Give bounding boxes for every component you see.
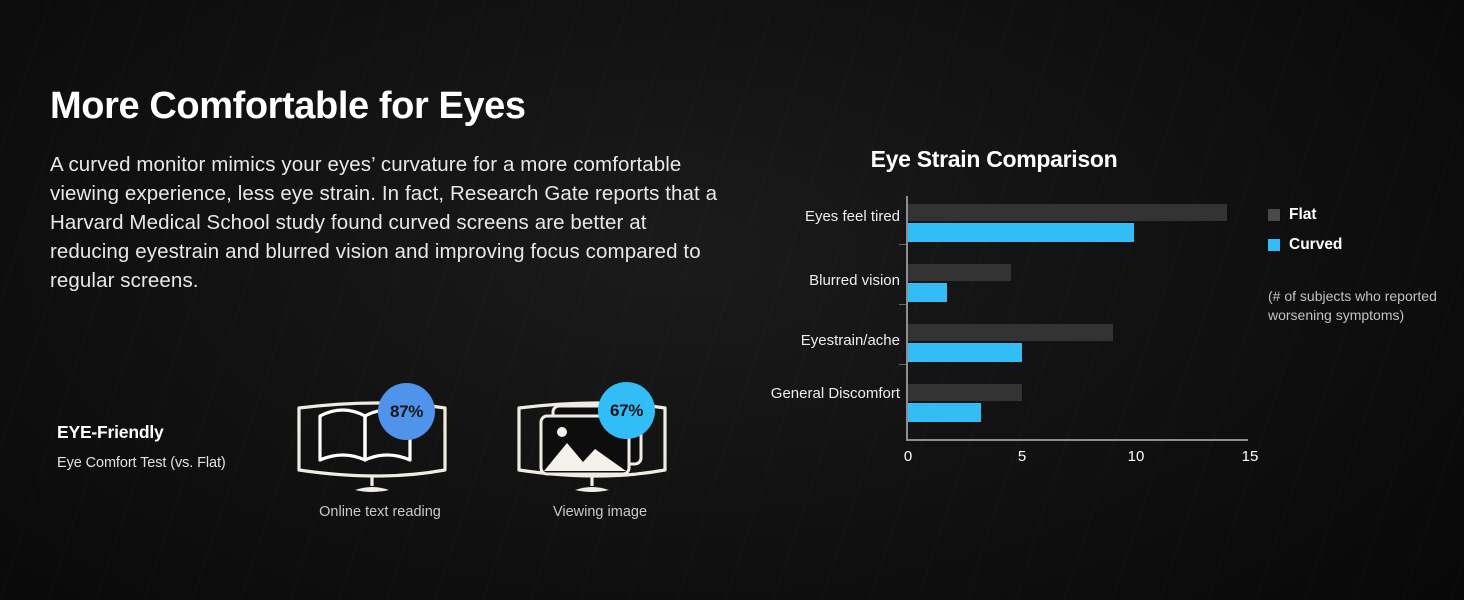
chart-category-label: Eyestrain/ache — [740, 332, 900, 349]
chart-y-tick — [899, 364, 906, 365]
eye-comfort-test-subtitle: Eye Comfort Test (vs. Flat) — [57, 455, 287, 471]
chart-x-tick-label: 15 — [1242, 448, 1259, 465]
chart-x-tick-label: 10 — [1128, 448, 1145, 465]
eye-strain-chart: Eye Strain Comparison Eyes feel tired Bl… — [740, 138, 1440, 488]
eye-comfort-section: EYE-Friendly Eye Comfort Test (vs. Flat) — [50, 386, 730, 536]
chart-category-label: Eyes feel tired — [740, 208, 900, 225]
chart-bar-curved — [908, 283, 947, 302]
chart-x-tick-label: 5 — [1018, 448, 1026, 465]
legend-entry-flat: Flat — [1268, 206, 1440, 224]
promo-banner: More Comfortable for Eyes A curved monit… — [0, 0, 1464, 600]
eye-comfort-labels: EYE-Friendly Eye Comfort Test (vs. Flat) — [57, 422, 287, 471]
legend-label: Flat — [1289, 206, 1317, 224]
chart-x-tick-label: 0 — [904, 448, 912, 465]
chart-y-tick — [899, 244, 906, 245]
chart-category-label: Blurred vision — [740, 272, 900, 289]
chart-bar-curved — [908, 343, 1022, 362]
comfort-percentage-badge: 67% — [598, 382, 655, 439]
chart-plot-area: Eyes feel tired Blurred vision Eyestrain… — [740, 196, 1260, 468]
comfort-percentage-badge: 87% — [378, 383, 435, 440]
legend-label: Curved — [1289, 236, 1342, 254]
comfort-card-caption: Online text reading — [285, 504, 475, 520]
body-paragraph: A curved monitor mimics your eyes’ curva… — [50, 150, 722, 295]
eye-friendly-title: EYE-Friendly — [57, 422, 287, 443]
legend-swatch-icon — [1268, 209, 1280, 221]
chart-bar-flat — [908, 264, 1011, 281]
chart-x-axis-line — [906, 439, 1248, 441]
chart-bar-curved — [908, 403, 981, 422]
page-title: More Comfortable for Eyes — [50, 86, 740, 128]
chart-bars-area: 0 5 10 15 — [906, 196, 1248, 441]
intro-text-column: More Comfortable for Eyes A curved monit… — [50, 86, 740, 295]
chart-legend: Flat Curved (# of subjects who reported … — [1268, 206, 1440, 325]
chart-category-label: General Discomfort — [740, 385, 900, 402]
comfort-stat-card: 87% Online text reading — [285, 386, 475, 534]
comfort-card-caption: Viewing image — [505, 504, 695, 520]
chart-bar-flat — [908, 384, 1022, 401]
chart-y-axis-labels: Eyes feel tired Blurred vision Eyestrain… — [740, 196, 900, 441]
legend-entry-curved: Curved — [1268, 236, 1440, 254]
comfort-stat-card: 67% Viewing image — [505, 386, 695, 534]
chart-title: Eye Strain Comparison — [740, 146, 1248, 173]
legend-note: (# of subjects who reported worsening sy… — [1268, 287, 1440, 325]
legend-swatch-icon — [1268, 239, 1280, 251]
chart-y-tick — [899, 304, 906, 305]
chart-bar-flat — [908, 204, 1227, 221]
chart-bar-curved — [908, 223, 1134, 242]
chart-bar-flat — [908, 324, 1113, 341]
